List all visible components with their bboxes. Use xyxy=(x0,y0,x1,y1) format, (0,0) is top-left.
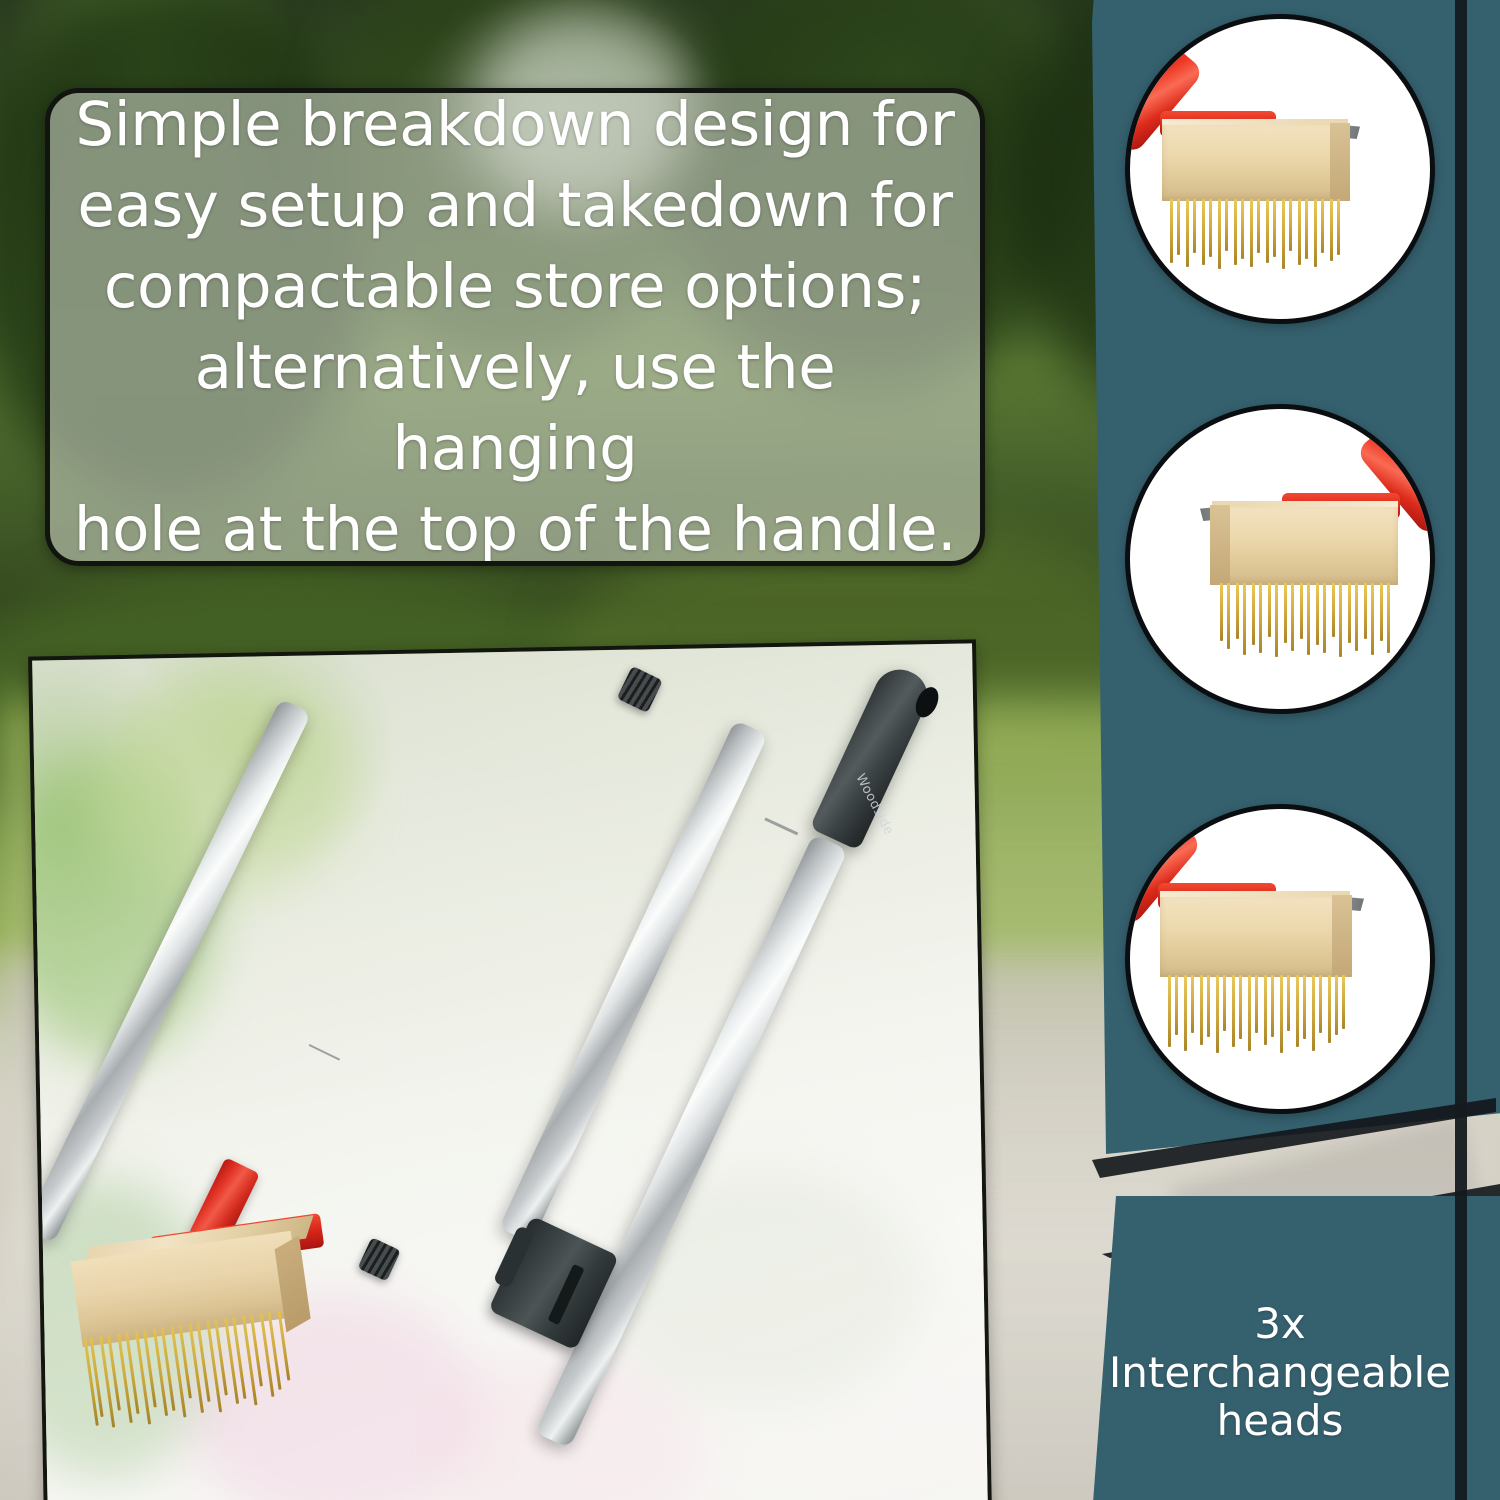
headline-line-5: hole at the top of the handle. xyxy=(64,489,966,566)
brush-wood-block xyxy=(1162,125,1348,201)
label-line-3: heads xyxy=(1105,1397,1455,1446)
label-line-1: 3x xyxy=(1105,1300,1455,1349)
collar-slot xyxy=(548,1264,585,1325)
interchangeable-heads-label: 3x Interchangeable heads xyxy=(1105,1300,1455,1446)
brush-wood-block xyxy=(1212,507,1398,585)
headline-line-2: easy setup and takedown for xyxy=(64,165,966,246)
brush-wood-block xyxy=(1160,897,1350,977)
label-line-2: Interchangeable xyxy=(1105,1349,1455,1398)
brush-bristles xyxy=(1212,583,1394,659)
brush-head-graphic xyxy=(1130,809,1430,1109)
headline-line-1: Simple breakdown design for xyxy=(64,88,966,165)
brush-wood-end xyxy=(1210,505,1230,585)
feature-circle-brush-head-2 xyxy=(1125,404,1435,714)
feature-circle-brush-head-1 xyxy=(1125,14,1435,324)
product-photo-panel: Woodside xyxy=(28,639,992,1500)
headline-line-4: alternatively, use the hanging xyxy=(64,327,966,489)
feature-circle-brush-head-3 xyxy=(1125,804,1435,1114)
headline-text-card: Simple breakdown design for easy setup a… xyxy=(45,88,985,566)
headline-text-block: Simple breakdown design for easy setup a… xyxy=(50,88,980,566)
brush-wood-end xyxy=(1330,123,1350,201)
brush-wood-end xyxy=(1332,895,1352,977)
brush-bristles xyxy=(1164,975,1350,1055)
right-border-strip xyxy=(1455,0,1467,1500)
brush-head-graphic xyxy=(1130,409,1430,709)
brush-bristles xyxy=(1166,199,1348,271)
marketing-image-stage: Simple breakdown design for easy setup a… xyxy=(0,0,1500,1500)
brush-head-graphic xyxy=(1130,19,1430,319)
headline-line-3: compactable store options; xyxy=(64,246,966,327)
